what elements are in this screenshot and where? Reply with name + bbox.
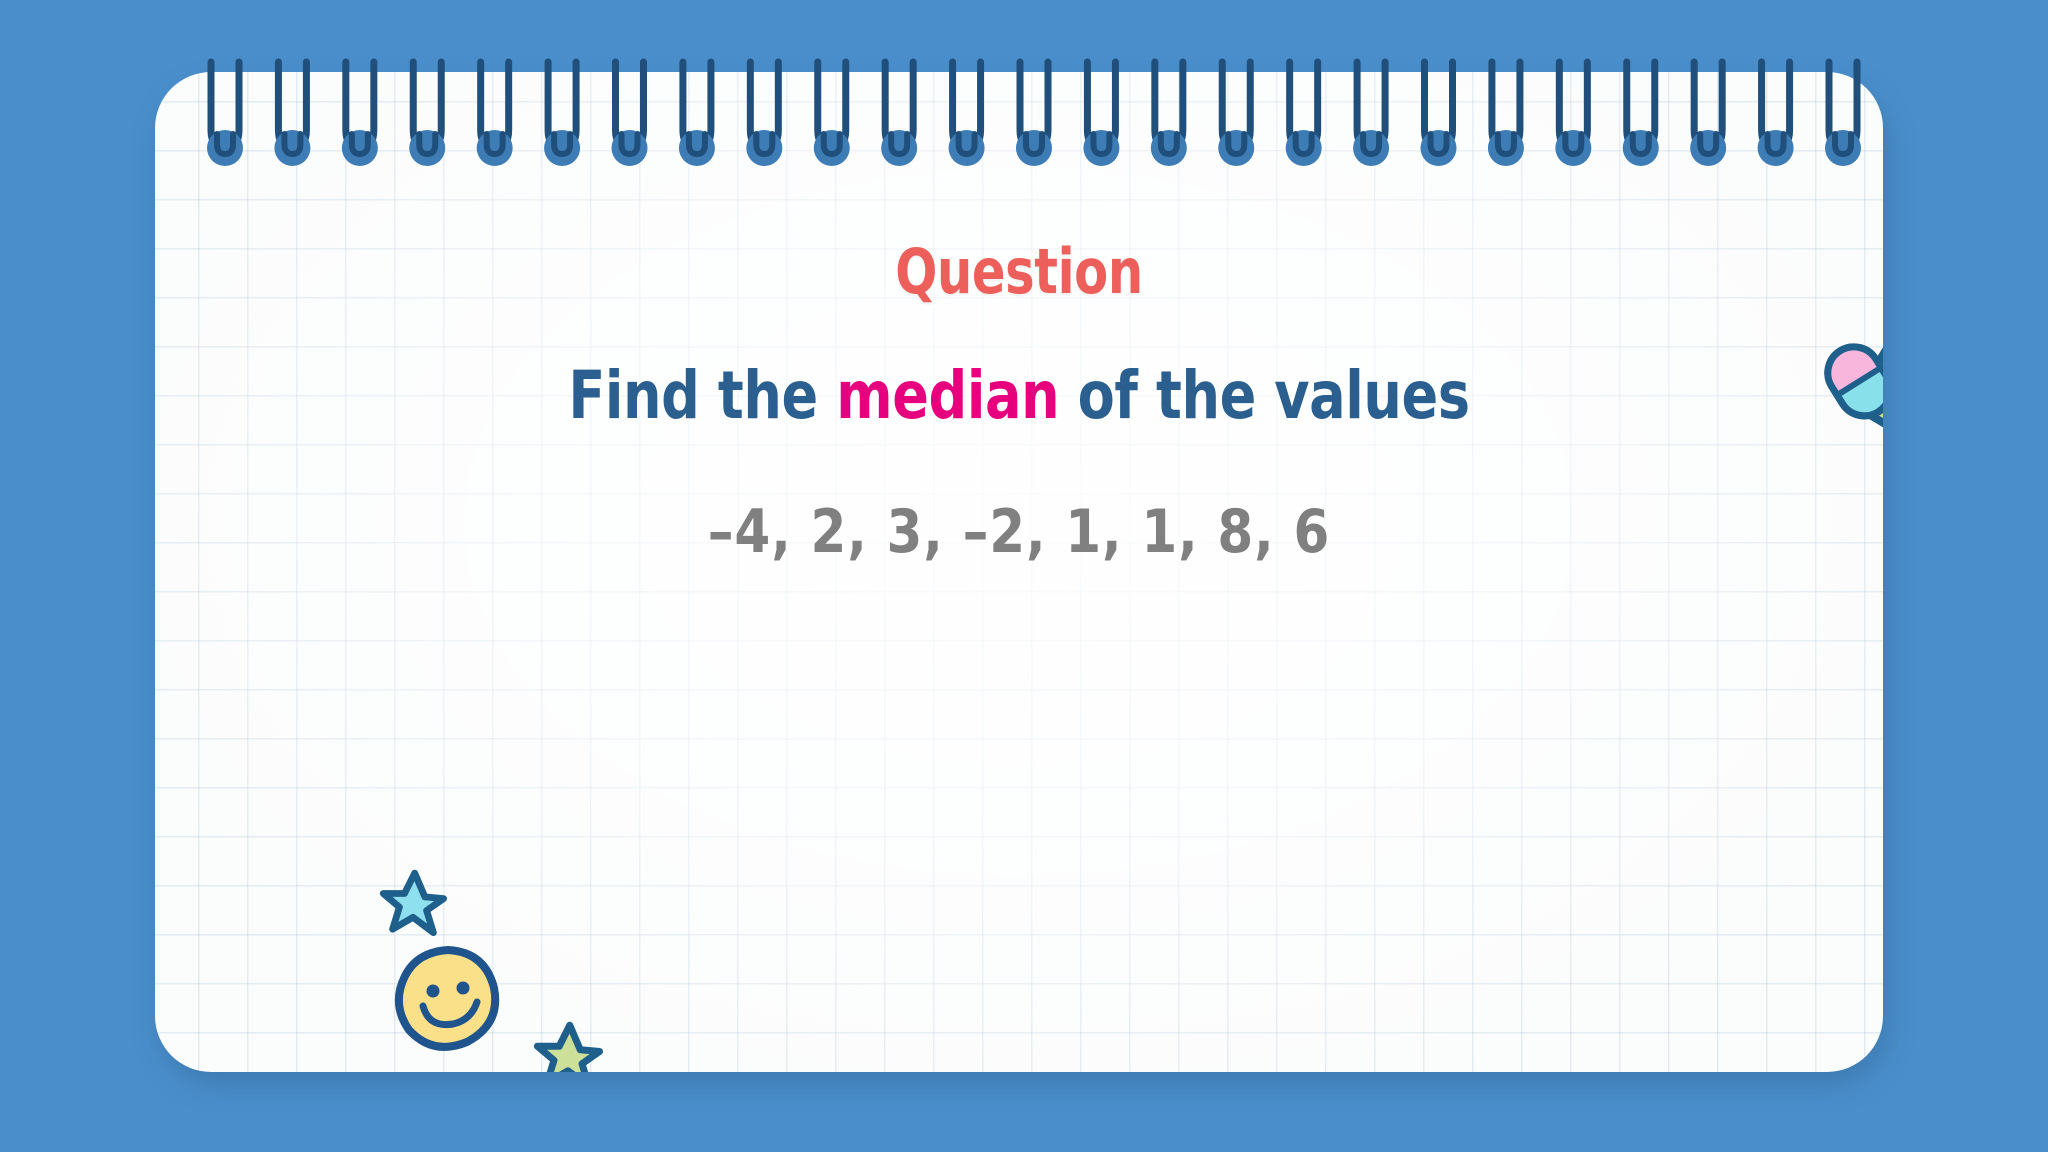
star-cyan-doodle [379,868,447,936]
smiley-face-doodle [393,944,503,1052]
slide-canvas: Question Find the median of the values –… [0,0,2048,1152]
prompt-after: of the values [1059,357,1469,434]
pencil-doodle [1819,248,1883,448]
prompt-highlight-median: median [836,357,1059,434]
notepad-card: Question Find the median of the values –… [155,72,1883,1072]
values-list: –4, 2, 3, –2, 1, 1, 8, 6 [276,497,1762,567]
page-title: Question [328,235,1710,308]
star-green-doodle [533,1020,603,1072]
prompt-before: Find the [568,357,836,434]
question-prompt: Find the median of the values [311,357,1728,434]
